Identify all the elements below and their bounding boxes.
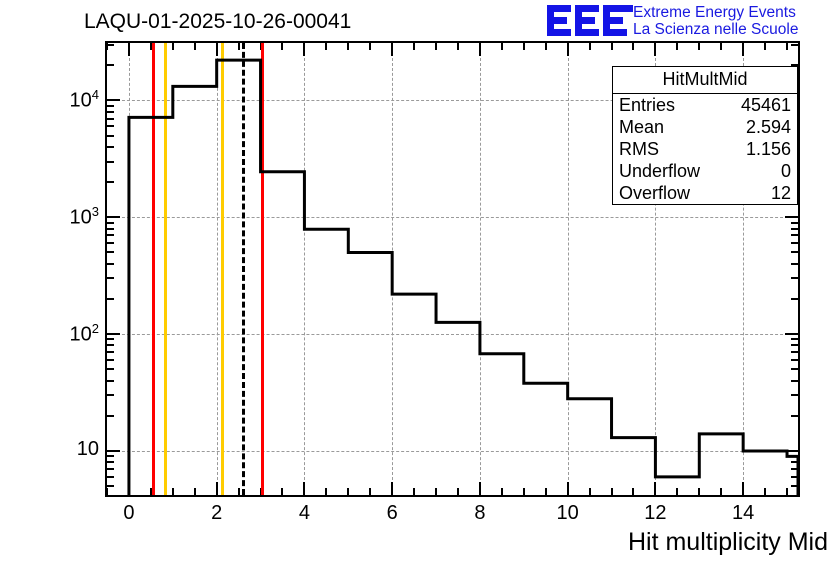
x-axis-tick-label: 6 bbox=[372, 502, 412, 525]
root-canvas: LAQU-01-2025-10-26-00041 Extreme Energy … bbox=[0, 0, 836, 572]
x-axis-title: Hit multiplicity Mid bbox=[628, 528, 828, 557]
x-axis-tick-label: 10 bbox=[548, 502, 588, 525]
eee-logo-mark bbox=[545, 3, 635, 37]
y-axis-tick-label: 103 bbox=[70, 204, 99, 230]
x-axis-tick-label: 12 bbox=[635, 502, 675, 525]
histogram-step-line bbox=[129, 60, 798, 495]
y-axis-tick-label: 104 bbox=[70, 87, 99, 113]
eee-logo-line2: La Scienza nelle Scuole bbox=[633, 21, 798, 38]
x-axis-tick-label: 2 bbox=[197, 502, 237, 525]
x-axis-tick-label: 14 bbox=[723, 502, 763, 525]
plot-area bbox=[107, 43, 798, 495]
y-axis-tick-label: 102 bbox=[70, 321, 99, 347]
x-axis-tick-label: 4 bbox=[284, 502, 324, 525]
x-axis-tick-label: 8 bbox=[460, 502, 500, 525]
page-title: LAQU-01-2025-10-26-00041 bbox=[84, 10, 351, 34]
eee-logo-text: Extreme Energy Events La Scienza nelle S… bbox=[633, 4, 798, 38]
eee-logo: Extreme Energy Events La Scienza nelle S… bbox=[545, 2, 833, 42]
eee-logo-line1: Extreme Energy Events bbox=[633, 4, 798, 21]
plot-frame bbox=[105, 41, 800, 497]
histogram-curve bbox=[107, 43, 798, 495]
x-axis-tick-label: 0 bbox=[109, 502, 149, 525]
y-axis-tick-label: 10 bbox=[77, 438, 99, 461]
